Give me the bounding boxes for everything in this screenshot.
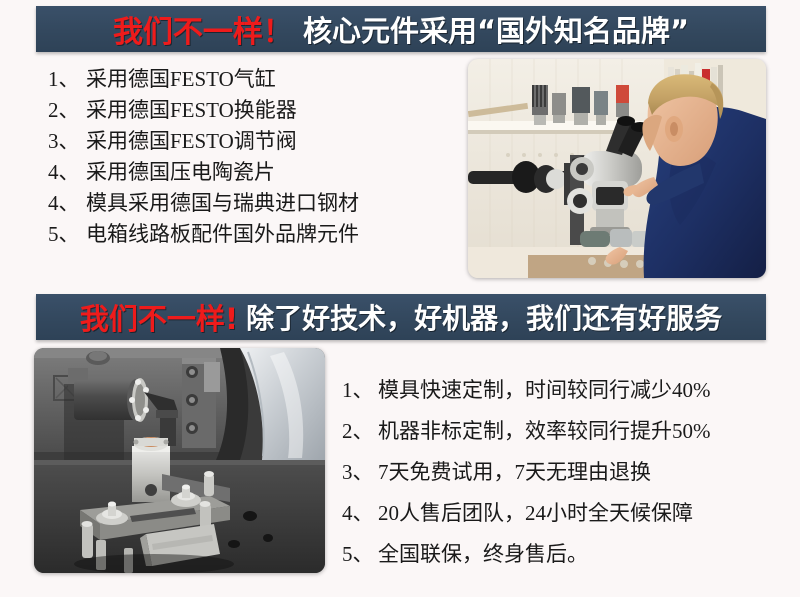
- list-item-number: 5、: [48, 219, 82, 250]
- list-item: 3、 采用德国FESTO调节阀: [48, 126, 448, 157]
- list-item-text: 采用德国FESTO换能器: [82, 95, 297, 126]
- list-item-text: 7天免费试用，7天无理由退换: [376, 452, 651, 493]
- list-item-number: 4、: [342, 493, 376, 534]
- list-item-number: 5、: [342, 534, 376, 575]
- list-item: 2、 机器非标定制，效率较同行提升50%: [342, 411, 792, 452]
- list-item-number: 2、: [342, 411, 376, 452]
- list-item-number: 3、: [48, 126, 82, 157]
- list-item-number: 4、: [48, 157, 82, 188]
- list-item: 4、 20人售后团队，24小时全天候保障: [342, 493, 792, 534]
- list-item-text: 采用德国FESTO调节阀: [82, 126, 297, 157]
- list-item-number: 3、: [342, 452, 376, 493]
- list-item-number: 4、: [48, 188, 82, 219]
- list-item: 4、 采用德国压电陶瓷片: [48, 157, 448, 188]
- section-two-banner-title: 除了好技术，好机器，我们还有好服务: [246, 297, 722, 337]
- list-item-number: 1、: [342, 370, 376, 411]
- list-item-text: 模具快速定制，时间较同行减少40%: [376, 370, 711, 411]
- list-item-text: 模具采用德国与瑞典进口钢材: [82, 188, 359, 219]
- list-item: 1、 采用德国FESTO气缸: [48, 64, 448, 95]
- list-item: 2、 采用德国FESTO换能器: [48, 95, 448, 126]
- section-one-banner: 我们不一样！ 核心元件采用“国外知名品牌”: [36, 6, 766, 52]
- promo-page: 我们不一样！ 核心元件采用“国外知名品牌” 1、 采用德国FESTO气缸 2、 …: [0, 0, 800, 597]
- machine-photo-illustration: [34, 348, 325, 573]
- list-item-number: 2、: [48, 95, 82, 126]
- list-item-text: 电箱线路板配件国外品牌元件: [82, 219, 359, 250]
- list-item-text: 采用德国压电陶瓷片: [82, 157, 275, 188]
- list-item-number: 1、: [48, 64, 82, 95]
- section-one-feature-list: 1、 采用德国FESTO气缸 2、 采用德国FESTO换能器 3、 采用德国FE…: [48, 64, 448, 250]
- microscope-photo: [468, 59, 766, 278]
- list-item-text: 机器非标定制，效率较同行提升50%: [376, 411, 711, 452]
- list-item: 1、 模具快速定制，时间较同行减少40%: [342, 370, 792, 411]
- section-one-banner-title: 核心元件采用“国外知名品牌”: [303, 8, 689, 50]
- section-two-banner-highlight: 我们不一样!: [80, 296, 238, 338]
- list-item-text: 全国联保，终身售后。: [376, 534, 588, 575]
- machine-photo: [34, 348, 325, 573]
- list-item-text: 20人售后团队，24小时全天候保障: [376, 493, 693, 534]
- section-two-feature-list: 1、 模具快速定制，时间较同行减少40% 2、 机器非标定制，效率较同行提升50…: [342, 370, 792, 575]
- list-item: 3、 7天免费试用，7天无理由退换: [342, 452, 792, 493]
- section-one-banner-highlight: 我们不一样！: [113, 7, 293, 51]
- list-item-text: 采用德国FESTO气缸: [82, 64, 276, 95]
- list-item: 4、 模具采用德国与瑞典进口钢材: [48, 188, 448, 219]
- list-item: 5、 全国联保，终身售后。: [342, 534, 792, 575]
- list-item: 5、 电箱线路板配件国外品牌元件: [48, 219, 448, 250]
- microscope-photo-illustration: [468, 59, 766, 278]
- section-two-banner: 我们不一样! 除了好技术，好机器，我们还有好服务: [36, 294, 766, 340]
